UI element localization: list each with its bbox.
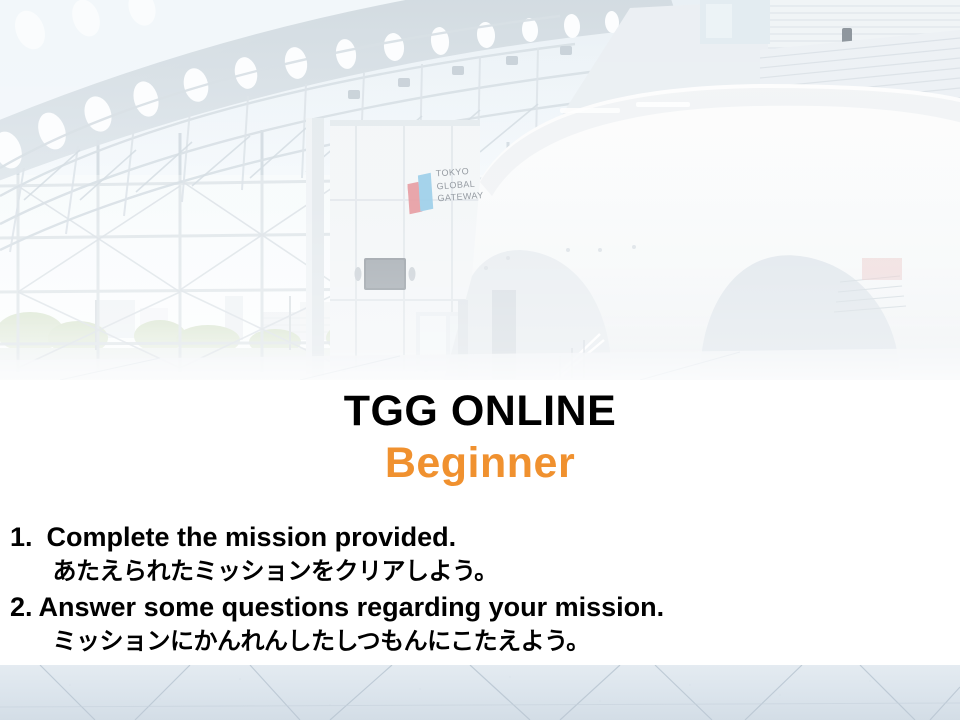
list-item: 1. Complete the mission provided. あたえられた… bbox=[0, 520, 960, 588]
list-item-english: Complete the mission provided. bbox=[47, 520, 960, 555]
tiled-floor-strip bbox=[0, 665, 960, 720]
tgg-logo-mark-right bbox=[418, 173, 433, 212]
tgg-logo-mark bbox=[407, 174, 436, 214]
atrium-photo: TOKYO GLOBAL GATEWAY bbox=[0, 0, 960, 380]
list-item: 2. Answer some questions regarding your … bbox=[0, 590, 960, 658]
tiled-floor-graphic bbox=[0, 665, 960, 720]
tgg-logo-line-3: GATEWAY bbox=[437, 189, 484, 205]
instruction-list: 1. Complete the mission provided. あたえられた… bbox=[0, 520, 960, 660]
list-item-number: 2. bbox=[0, 590, 39, 625]
list-item-number: 1. bbox=[0, 520, 47, 555]
list-item-body: Complete the mission provided. あたえられたミッシ… bbox=[47, 520, 960, 588]
page-title: TGG ONLINE bbox=[0, 386, 960, 436]
page-subtitle: Beginner bbox=[0, 438, 960, 488]
tgg-logo-text: TOKYO GLOBAL GATEWAY bbox=[435, 164, 484, 205]
list-item-english: Answer some questions regarding your mis… bbox=[39, 590, 960, 625]
list-item-body: Answer some questions regarding your mis… bbox=[39, 590, 960, 658]
tokyo-global-gateway-logo: TOKYO GLOBAL GATEWAY bbox=[406, 155, 506, 226]
list-item-japanese: ミッションにかんれんしたしつもんにこたえよう。 bbox=[39, 625, 960, 658]
list-item-japanese: あたえられたミッションをクリアしよう。 bbox=[47, 555, 960, 588]
title-block: TGG ONLINE Beginner bbox=[0, 380, 960, 488]
slide-root: TOKYO GLOBAL GATEWAY TGG ONLINE Beginner… bbox=[0, 0, 960, 720]
